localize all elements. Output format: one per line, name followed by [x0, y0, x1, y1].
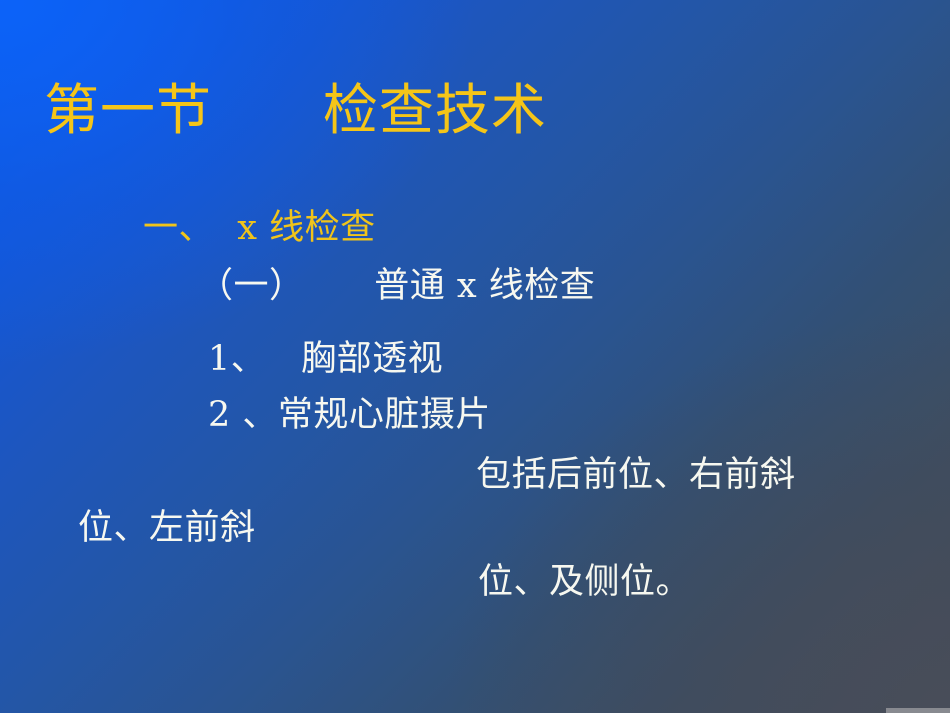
body-line-subsection-plain-xray: （一） 普通 x 线检查	[198, 269, 595, 304]
body-line-detail-positions-part3: 位、及侧位。	[478, 565, 691, 600]
corner-artifact	[886, 708, 950, 713]
presentation-slide: 第一节 检查技术 一、 x 线检查 （一） 普通 x 线检查 1、 胸部透视 2…	[0, 0, 950, 713]
body-line-detail-positions-part2: 位、左前斜	[78, 511, 256, 546]
body-line-item-2-routine-cardiac-radiograph: 2 、常规心脏摄片	[208, 398, 491, 433]
section-heading-xray-examination: 一、 x 线检查	[143, 211, 376, 246]
slide-title: 第一节 检查技术	[44, 83, 547, 138]
body-line-item-1-chest-fluoroscopy: 1、 胸部透视	[208, 342, 443, 377]
body-line-detail-positions-part1: 包括后前位、右前斜	[476, 458, 796, 493]
